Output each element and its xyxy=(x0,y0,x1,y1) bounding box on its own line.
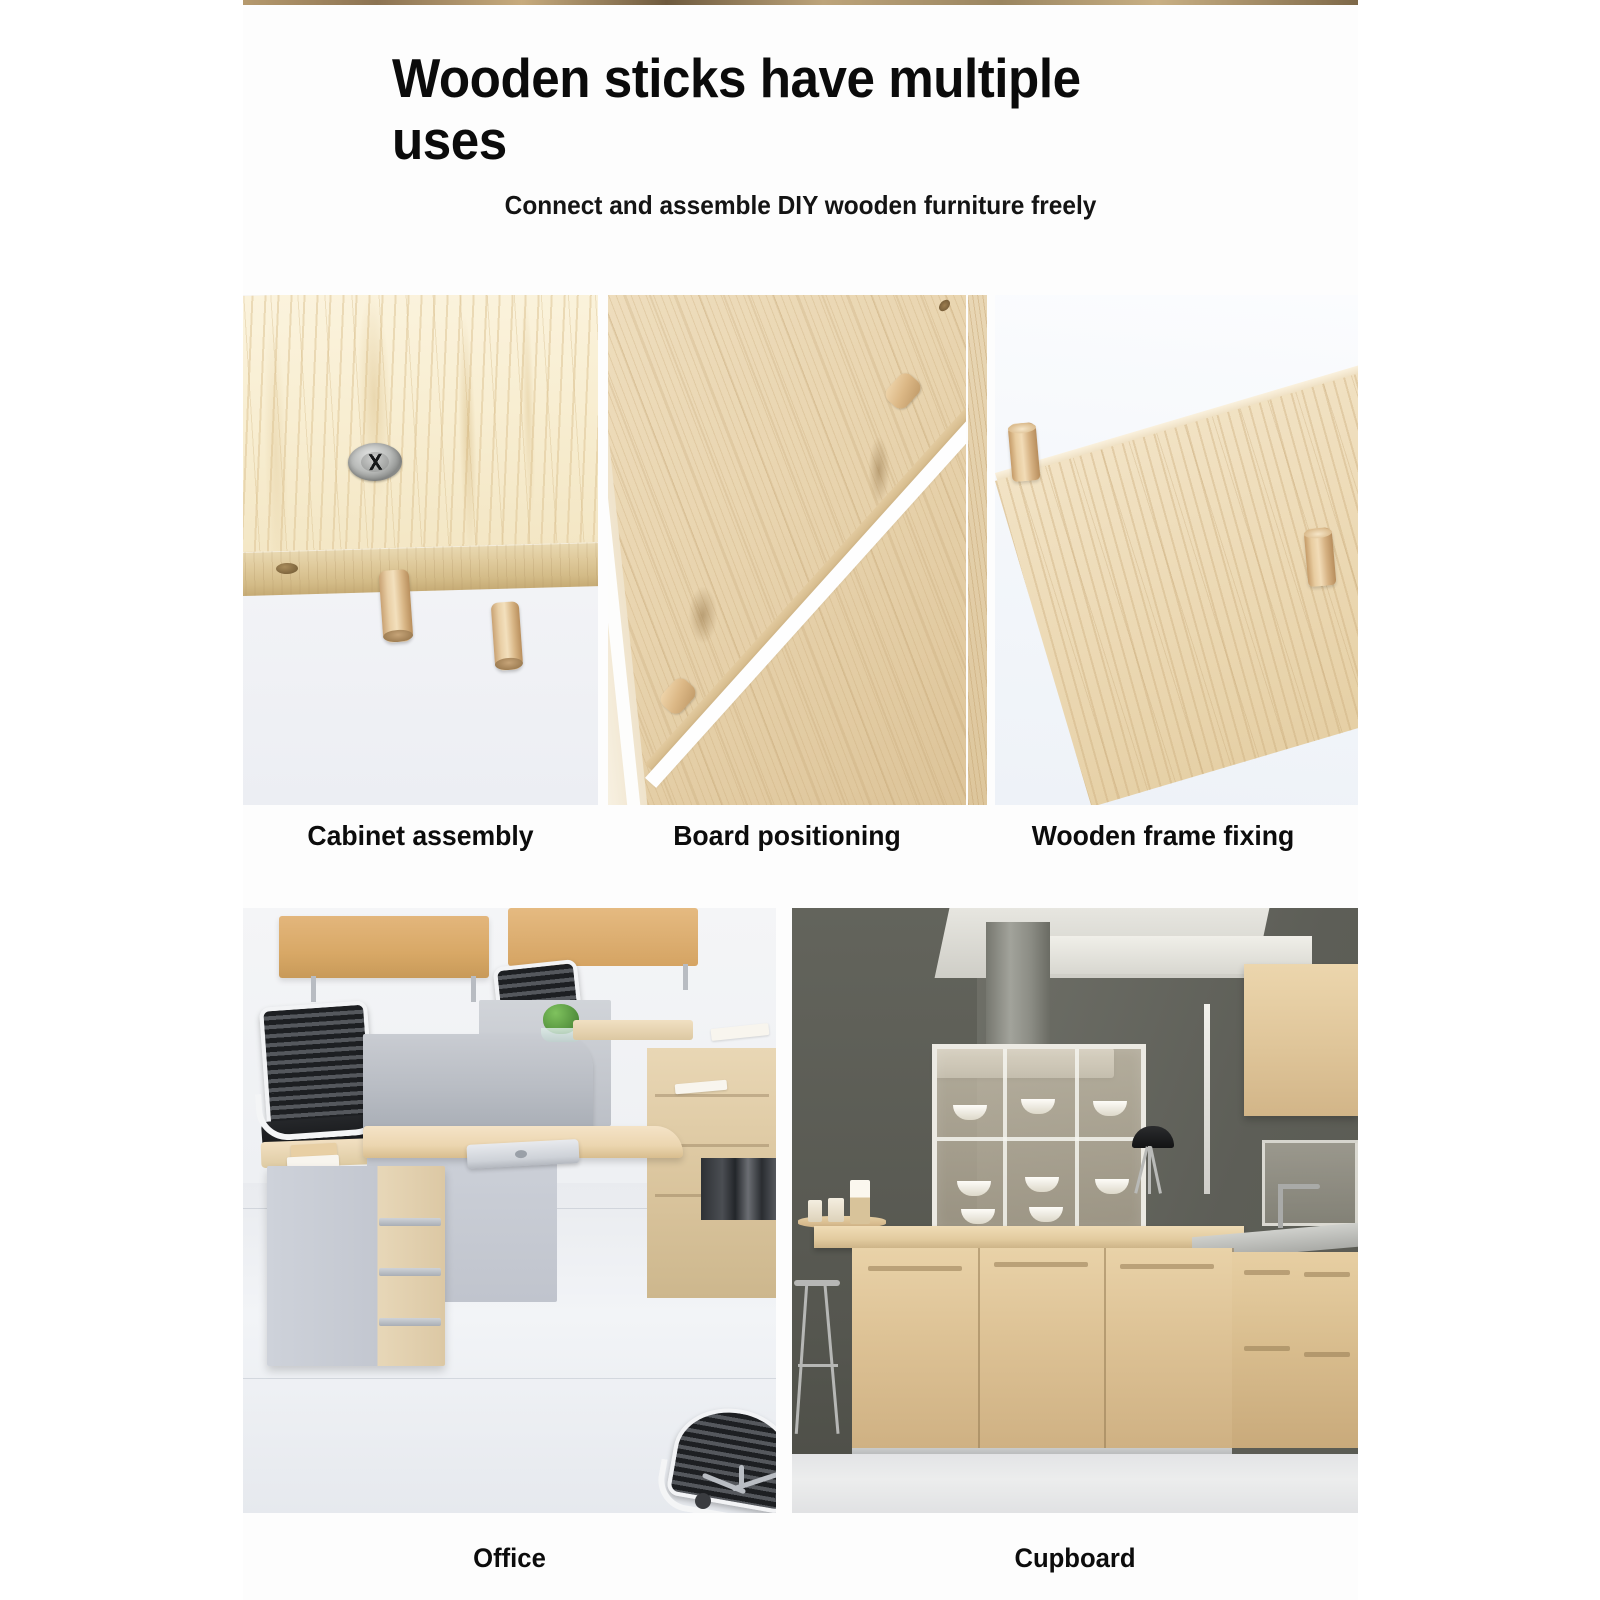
kitchen-floor xyxy=(792,1454,1358,1513)
canister xyxy=(828,1198,844,1222)
base-cupboard-run xyxy=(1232,1252,1358,1448)
page-title: Wooden sticks have multiple uses xyxy=(392,47,1117,171)
photo-wooden-frame-fixing xyxy=(968,295,1358,805)
floor-tile-line xyxy=(243,1378,776,1379)
drawer-pedestal xyxy=(267,1166,445,1366)
paper-sheet xyxy=(711,1023,770,1041)
glass-display-cabinet xyxy=(932,1044,1146,1234)
wood-panel xyxy=(995,367,1358,805)
cupboard-door xyxy=(1104,1248,1234,1448)
photo-cupboard xyxy=(792,908,1358,1513)
drawer-handle xyxy=(379,1318,441,1326)
door-handle xyxy=(868,1266,962,1271)
office-chair xyxy=(259,1000,375,1127)
photo-board-positioning xyxy=(608,295,966,805)
books-on-shelf xyxy=(701,1158,776,1220)
laptop xyxy=(466,1139,579,1169)
door-handle xyxy=(994,1262,1088,1267)
drawer-handle xyxy=(379,1218,441,1226)
caption-cabinet-assembly: Cabinet assembly xyxy=(252,820,589,852)
bowl xyxy=(953,1105,987,1120)
drawer-handle xyxy=(1244,1346,1290,1351)
upper-wall-cupboard xyxy=(1244,964,1358,1116)
stool-leg xyxy=(795,1284,808,1434)
chair-column xyxy=(739,1465,744,1487)
wood-knot xyxy=(688,585,718,645)
background-bench xyxy=(508,908,698,966)
page-subtitle: Connect and assemble DIY wooden furnitur… xyxy=(276,190,1324,221)
caster-wheel xyxy=(775,1489,776,1505)
caster-wheel xyxy=(695,1493,711,1509)
cabinet-shelf xyxy=(937,1137,1141,1141)
bowl xyxy=(1021,1099,1055,1114)
furniture-leg xyxy=(683,964,688,990)
side-board-sliver xyxy=(968,295,987,805)
wood-grain xyxy=(243,295,598,558)
caption-board-positioning: Board positioning xyxy=(617,820,957,852)
background-bench xyxy=(279,916,489,978)
bowl xyxy=(957,1181,991,1196)
dowel-pin xyxy=(1304,527,1337,587)
caption-cupboard: Cupboard xyxy=(806,1543,1344,1574)
base-cupboard-run xyxy=(852,1248,1232,1448)
caption-wooden-frame-fixing: Wooden frame fixing xyxy=(978,820,1349,852)
cupboard-door xyxy=(852,1248,980,1448)
cupboard-door xyxy=(978,1248,1106,1448)
dowel-pin xyxy=(491,601,524,671)
stool-seat xyxy=(794,1280,840,1286)
photo-office xyxy=(243,908,776,1513)
bowl xyxy=(1029,1207,1063,1222)
wall-light-strip xyxy=(1204,1004,1210,1194)
photo-cabinet-assembly xyxy=(243,295,598,805)
furniture-leg xyxy=(311,976,316,1002)
caption-office: Office xyxy=(256,1543,762,1574)
drawer-handle xyxy=(1304,1272,1350,1277)
utensil-holder xyxy=(850,1180,870,1224)
wood-sheet xyxy=(608,295,966,805)
content-column: Wooden sticks have multiple uses Connect… xyxy=(243,5,1358,1600)
drawer-handle xyxy=(1244,1270,1290,1275)
wood-board xyxy=(243,295,598,558)
furniture-leg xyxy=(471,976,476,1002)
product-detail-page: Wooden sticks have multiple uses Connect… xyxy=(0,0,1600,1600)
stool-footrest xyxy=(798,1364,838,1367)
range-hood-duct xyxy=(986,922,1050,1052)
stool-leg xyxy=(823,1284,839,1434)
bowl xyxy=(961,1209,995,1224)
bowl xyxy=(1093,1101,1127,1116)
drawer-seam xyxy=(655,1094,769,1097)
glass-backsplash-cabinet xyxy=(1262,1140,1358,1226)
board-gap xyxy=(987,295,995,805)
drawer-handle xyxy=(1304,1352,1350,1357)
dowel-pin xyxy=(379,569,414,643)
side-shelf xyxy=(573,1020,693,1040)
dowel-pin xyxy=(1008,422,1041,482)
lamp-leg xyxy=(1148,1146,1151,1194)
door-handle xyxy=(1120,1264,1214,1269)
canister xyxy=(808,1200,822,1222)
drawer-handle xyxy=(379,1268,441,1276)
desk-privacy-panel xyxy=(363,1034,593,1130)
bowl xyxy=(1095,1179,1129,1194)
countertop xyxy=(814,1226,1244,1248)
bowl xyxy=(1025,1177,1059,1192)
chair-wheel-base xyxy=(691,1465,776,1513)
kitchen-faucet xyxy=(1278,1184,1283,1228)
bar-stool xyxy=(794,1280,846,1440)
